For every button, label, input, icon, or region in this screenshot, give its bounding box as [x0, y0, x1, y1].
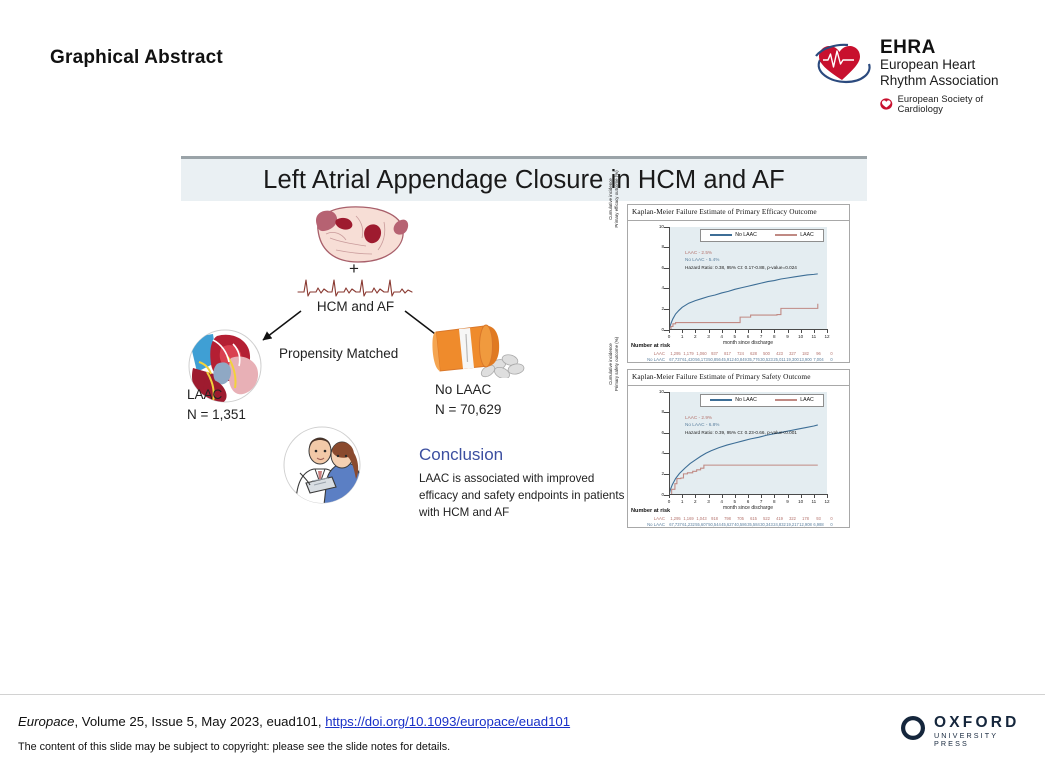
- x-tick-label: 10: [796, 499, 806, 504]
- risk-cell: 1,043: [695, 516, 708, 521]
- x-tick: [722, 494, 723, 498]
- laac-arm-name: LAAC: [187, 385, 246, 405]
- x-tick: [827, 494, 828, 498]
- y-tick: [664, 433, 669, 434]
- ehra-acronym: EHRA: [880, 38, 1027, 57]
- copyright-note: The content of this slide may be subject…: [18, 741, 450, 753]
- laac-arm-label: LAAC N = 1,351: [187, 385, 246, 424]
- risk-cell: 322: [786, 516, 799, 521]
- risk-cell: 0: [825, 357, 838, 362]
- y-tick: [664, 288, 669, 289]
- risk-cell: 817: [721, 351, 734, 356]
- condition-label: HCM and AF: [293, 299, 418, 314]
- y-tick-label: 2: [642, 471, 664, 476]
- risk-row-label: No LAAC: [631, 522, 669, 527]
- annotation-laac: LAAC - 2.5%: [685, 249, 797, 257]
- x-tick: [827, 329, 828, 333]
- citation: Europace, Volume 25, Issue 5, May 2023, …: [18, 714, 570, 729]
- x-tick-label: 3: [704, 499, 714, 504]
- y-tick: [664, 227, 669, 228]
- ehra-line2: Rhythm Association: [880, 73, 1027, 89]
- risk-cell: 50,856: [708, 357, 721, 362]
- legend-item-laac: LAAC: [775, 232, 814, 238]
- y-tick: [664, 309, 669, 310]
- journal-name: Europace: [18, 714, 74, 729]
- esc-row: European Society of Cardiology: [880, 94, 1027, 114]
- risk-cell: 798: [721, 516, 734, 521]
- y-tick-label: 4: [642, 285, 664, 290]
- legend-swatch-laac: [775, 234, 797, 236]
- x-tick: [682, 329, 683, 333]
- oup-wordmark: OXFORD UNIVERSITY PRESS: [934, 714, 1032, 748]
- footer-divider: [0, 694, 1045, 695]
- y-tick: [664, 247, 669, 248]
- risk-cell: 0: [825, 516, 838, 521]
- oup-line2: UNIVERSITY PRESS: [934, 732, 1032, 748]
- propensity-matched-label: Propensity Matched: [279, 346, 398, 361]
- risk-cell: 67,737: [669, 357, 682, 362]
- risk-cell: 615: [747, 516, 760, 521]
- risk-cell: 522: [760, 516, 773, 521]
- x-tick: [788, 329, 789, 333]
- esc-label: European Society of Cardiology: [898, 94, 1027, 114]
- risk-row-label: LAAC: [631, 351, 669, 356]
- y-tick-label: 4: [642, 450, 664, 455]
- x-tick-label: 5: [730, 334, 740, 339]
- y-axis: [669, 227, 670, 330]
- x-tick-label: 0: [664, 499, 674, 504]
- y-axis-title: Cumulative incidence Primary efficacy ou…: [608, 159, 619, 239]
- risk-row-label: No LAAC: [631, 357, 669, 362]
- x-tick-label: 6: [743, 334, 753, 339]
- chart-safety-body: 0246810 0123456789101112 month since dis…: [628, 386, 849, 529]
- chart-safety: Kaplan-Meier Failure Estimate of Primary…: [627, 369, 850, 528]
- x-tick-label: 2: [690, 334, 700, 339]
- legend-label-no-laac: No LAAC: [735, 397, 757, 403]
- series-laac: [669, 303, 818, 329]
- chart-annotations: LAAC - 2.5% No LAAC - 5.4% Hazard Ratio:…: [685, 249, 797, 272]
- chart-safety-title: Kaplan-Meier Failure Estimate of Primary…: [628, 370, 849, 386]
- x-axis-title: month since discharge: [669, 505, 827, 511]
- risk-cell: 24,832: [773, 522, 786, 527]
- x-tick-label: 0: [664, 334, 674, 339]
- y-tick: [664, 495, 669, 496]
- x-tick-label: 4: [717, 334, 727, 339]
- annotation-laac: LAAC - 2.9%: [685, 414, 797, 422]
- esc-heart-icon: [880, 98, 893, 110]
- risk-cell: 0: [825, 351, 838, 356]
- ehra-line1: European Heart: [880, 57, 1027, 73]
- legend-swatch-no-laac: [710, 399, 732, 401]
- risk-table-row-no-laac: No LAAC67,73761,23255,60750,54445,62740,…: [631, 521, 838, 528]
- annotation-hazard-ratio: Hazard Ratio: 0.38, 95% CI: 0.17-0.88, p…: [685, 264, 797, 272]
- risk-table-title: Number at risk: [631, 508, 670, 514]
- x-tick-label: 11: [809, 334, 819, 339]
- risk-cell: 419: [773, 516, 786, 521]
- risk-cell: 13,900: [799, 357, 812, 362]
- y-axis-title: Cumulative incidence Primary safety outc…: [608, 324, 619, 404]
- atrium-illustration-icon: [306, 204, 411, 266]
- legend-swatch-no-laac: [710, 234, 732, 236]
- chart-efficacy: Kaplan-Meier Failure Estimate of Primary…: [627, 204, 850, 363]
- y-tick-label: 8: [642, 409, 664, 414]
- risk-cell: 50,544: [708, 522, 721, 527]
- risk-cell: 55,607: [695, 522, 708, 527]
- risk-cell: 67,737: [669, 522, 682, 527]
- x-tick: [801, 329, 802, 333]
- risk-cell: 45,912: [721, 357, 734, 362]
- x-tick-label: 1: [677, 334, 687, 339]
- risk-cell: 628: [747, 351, 760, 356]
- x-tick-label: 8: [769, 499, 779, 504]
- laac-arm-n: N = 1,351: [187, 405, 246, 425]
- x-tick: [722, 329, 723, 333]
- ecg-waveform-icon: [296, 272, 414, 300]
- y-axis: [669, 392, 670, 495]
- risk-cell: 40,849: [734, 357, 747, 362]
- risk-cell: 0: [825, 522, 838, 527]
- risk-cell: 19,217: [786, 522, 799, 527]
- y-tick-label: 10: [642, 224, 664, 229]
- risk-cell: 40,586: [734, 522, 747, 527]
- risk-cell: 1,179: [682, 351, 695, 356]
- x-tick: [695, 494, 696, 498]
- citation-detail: , Volume 25, Issue 5, May 2023, euad101,: [74, 714, 325, 729]
- risk-cell: 1,060: [695, 351, 708, 356]
- risk-cell: 45,627: [721, 522, 734, 527]
- x-tick: [735, 494, 736, 498]
- page-title: Graphical Abstract: [50, 47, 223, 69]
- legend-label-laac: LAAC: [800, 232, 814, 238]
- legend-item-no-laac: No LAAC: [710, 232, 757, 238]
- risk-cell: 56,173: [695, 357, 708, 362]
- x-tick: [709, 329, 710, 333]
- risk-cell: 937: [708, 351, 721, 356]
- y-tick: [664, 268, 669, 269]
- risk-cell: 182: [799, 351, 812, 356]
- x-tick-label: 7: [756, 334, 766, 339]
- risk-cell: 35,584: [747, 522, 760, 527]
- y-tick-label: 8: [642, 244, 664, 249]
- chart-legend: No LAAC LAAC: [700, 229, 824, 242]
- y-tick: [664, 330, 669, 331]
- risk-cell: 724: [734, 351, 747, 356]
- safety-curves: [669, 392, 827, 495]
- risk-cell: 423: [773, 351, 786, 356]
- efficacy-curves: [669, 227, 827, 330]
- risk-cell: 93: [812, 516, 825, 521]
- ehra-logo: EHRA European Heart Rhythm Association E…: [812, 38, 1027, 110]
- x-tick-label: 9: [783, 499, 793, 504]
- risk-cell: 12,908: [799, 522, 812, 527]
- risk-cell: 178: [799, 516, 812, 521]
- x-tick: [748, 329, 749, 333]
- risk-cell: 35,776: [747, 357, 760, 362]
- no-laac-arm-label: No LAAC N = 70,629: [435, 380, 501, 419]
- risk-cell: 918: [708, 516, 721, 521]
- risk-cell: 705: [734, 516, 747, 521]
- risk-row-label: LAAC: [631, 516, 669, 521]
- risk-cell: 7,004: [812, 357, 825, 362]
- y-tick: [664, 453, 669, 454]
- y-tick-label: 10: [642, 389, 664, 394]
- no-laac-arm-name: No LAAC: [435, 380, 501, 400]
- risk-cell: 1,295: [669, 516, 682, 521]
- oxford-university-press-logo: OXFORD UNIVERSITY PRESS: [900, 714, 1032, 746]
- conclusion-body: LAAC is associated with improved efficac…: [419, 471, 634, 521]
- y-tick-label: 6: [642, 430, 664, 435]
- x-tick: [669, 494, 670, 498]
- risk-cell: 30,523: [760, 357, 773, 362]
- x-tick: [774, 329, 775, 333]
- risk-cell: 1,295: [669, 351, 682, 356]
- study-diagram: + HCM and AF: [181, 200, 621, 545]
- y-tick-label: 0: [642, 327, 664, 332]
- x-tick-label: 4: [717, 499, 727, 504]
- slide-canvas: Graphical Abstract EHRA European Heart R…: [0, 0, 1045, 780]
- risk-cell: 61,420: [682, 357, 695, 362]
- pill-bottle-icon: [426, 318, 526, 378]
- legend-label-laac: LAAC: [800, 397, 814, 403]
- x-tick-label: 10: [796, 334, 806, 339]
- y-tick-label: 2: [642, 306, 664, 311]
- chart-annotations: LAAC - 2.9% No LAAC - 6.8% Hazard Ratio:…: [685, 414, 797, 437]
- no-laac-arm-n: N = 70,629: [435, 400, 501, 420]
- oup-line1: OXFORD: [934, 714, 1032, 731]
- risk-table-title: Number at risk: [631, 343, 670, 349]
- x-tick-label: 6: [743, 499, 753, 504]
- x-tick-label: 12: [822, 334, 832, 339]
- chart-legend: No LAAC LAAC: [700, 394, 824, 407]
- x-tick-label: 5: [730, 499, 740, 504]
- chart-efficacy-title: Kaplan-Meier Failure Estimate of Primary…: [628, 205, 849, 221]
- abstract-banner: Left Atrial Appendage Closure in HCM and…: [181, 156, 867, 201]
- x-tick: [814, 494, 815, 498]
- x-tick-label: 3: [704, 334, 714, 339]
- x-tick: [748, 494, 749, 498]
- doi-link[interactable]: https://doi.org/10.1093/europace/euad101: [325, 714, 570, 729]
- x-axis-title: month since discharge: [669, 340, 827, 346]
- x-tick-label: 9: [783, 334, 793, 339]
- legend-swatch-laac: [775, 399, 797, 401]
- x-tick: [695, 329, 696, 333]
- x-tick: [682, 494, 683, 498]
- clinicians-illustration-icon: [282, 425, 362, 505]
- y-tick: [664, 412, 669, 413]
- x-tick-label: 12: [822, 499, 832, 504]
- conclusion-title: Conclusion: [419, 445, 503, 465]
- x-tick-label: 8: [769, 334, 779, 339]
- risk-cell: 6,988: [812, 522, 825, 527]
- y-tick: [664, 474, 669, 475]
- x-tick: [801, 494, 802, 498]
- x-tick: [669, 329, 670, 333]
- risk-cell: 327: [786, 351, 799, 356]
- x-tick: [788, 494, 789, 498]
- risk-cell: 500: [760, 351, 773, 356]
- legend-item-laac: LAAC: [775, 397, 814, 403]
- x-tick-label: 2: [690, 499, 700, 504]
- x-tick: [774, 494, 775, 498]
- x-tick-label: 11: [809, 499, 819, 504]
- legend-label-no-laac: No LAAC: [735, 232, 757, 238]
- annotation-hazard-ratio: Hazard Ratio: 0.39, 95% CI: 0.23-0.66, p…: [685, 429, 797, 437]
- x-tick: [814, 329, 815, 333]
- risk-cell: 61,232: [682, 522, 695, 527]
- y-tick: [664, 392, 669, 393]
- abstract-title: Left Atrial Appendage Closure in HCM and…: [263, 166, 785, 195]
- y-tick-label: 6: [642, 265, 664, 270]
- annotation-no-laac: No LAAC - 6.8%: [685, 421, 797, 429]
- risk-cell: 96: [812, 351, 825, 356]
- x-tick: [735, 329, 736, 333]
- series-laac: [669, 465, 818, 495]
- risk-cell: 25,011: [773, 357, 786, 362]
- risk-cell: 19,300: [786, 357, 799, 362]
- risk-table-row-no-laac: No LAAC67,73761,42056,17350,85645,91240,…: [631, 356, 838, 363]
- x-tick-label: 1: [677, 499, 687, 504]
- risk-cell: 1,169: [682, 516, 695, 521]
- series-no-laac: [669, 273, 818, 329]
- x-tick: [709, 494, 710, 498]
- legend-item-no-laac: No LAAC: [710, 397, 757, 403]
- risk-cell: 30,343: [760, 522, 773, 527]
- x-tick: [761, 494, 762, 498]
- oup-mark-icon: [900, 715, 926, 741]
- y-tick-label: 0: [642, 492, 664, 497]
- ehra-logo-text: EHRA European Heart Rhythm Association E…: [880, 38, 1027, 114]
- x-tick: [761, 329, 762, 333]
- annotation-no-laac: No LAAC - 5.4%: [685, 256, 797, 264]
- ehra-heart-icon: [812, 42, 874, 86]
- x-tick-label: 7: [756, 499, 766, 504]
- chart-efficacy-body: 0246810 0123456789101112 month since dis…: [628, 221, 849, 364]
